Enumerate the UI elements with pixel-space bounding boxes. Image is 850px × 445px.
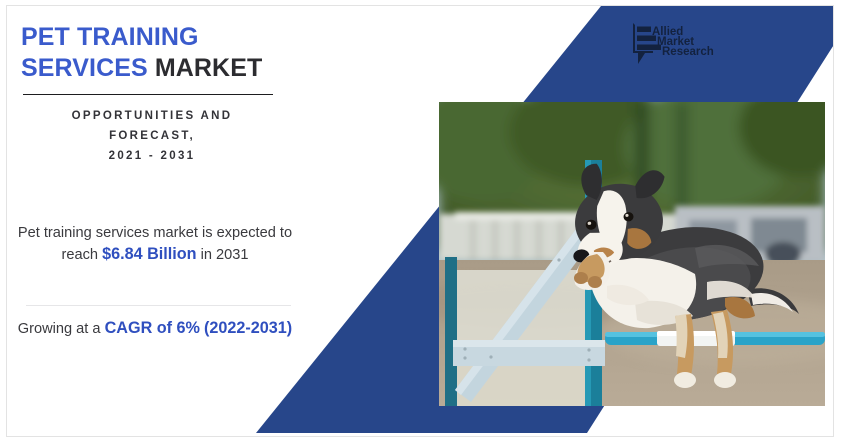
- subtitle-line-1: OPPORTUNITIES AND: [17, 106, 287, 126]
- logo-line-3: Research: [662, 46, 714, 58]
- subtitle-line-2: FORECAST,: [17, 126, 287, 146]
- stats-divider: [26, 305, 291, 306]
- infographic-canvas: Allied Market Research: [0, 0, 850, 445]
- title-highlight-line1: PET TRAINING: [21, 23, 199, 51]
- allied-market-research-logo[interactable]: Allied Market Research: [631, 22, 715, 68]
- infographic-card: Allied Market Research: [6, 5, 834, 437]
- title-plain-line2: MARKET: [155, 54, 263, 82]
- market-size-statement: Pet training services market is expected…: [15, 224, 295, 266]
- cagr-statement: Growing at a CAGR of 6% (2022-2031): [15, 317, 295, 340]
- left-text-column: PET TRAINING SERVICES MARKET OPPORTUNITI…: [7, 6, 295, 437]
- dog-agility-jump-photo: [439, 102, 825, 406]
- cagr-value: CAGR of 6%: [105, 319, 200, 337]
- market-size-trail: in 2031: [201, 247, 249, 263]
- report-subtitle: OPPORTUNITIES AND FORECAST, 2021 - 2031: [17, 106, 287, 166]
- cagr-period: (2022-2031): [204, 319, 292, 337]
- cagr-lead: Growing at a: [18, 321, 101, 337]
- title-divider: [23, 94, 273, 95]
- subtitle-line-3: 2021 - 2031: [17, 146, 287, 166]
- title-highlight-line2: SERVICES: [21, 54, 148, 82]
- right-gutter: [836, 0, 850, 445]
- page-title: PET TRAINING SERVICES MARKET: [21, 22, 283, 83]
- market-size-value: $6.84 Billion: [102, 245, 196, 263]
